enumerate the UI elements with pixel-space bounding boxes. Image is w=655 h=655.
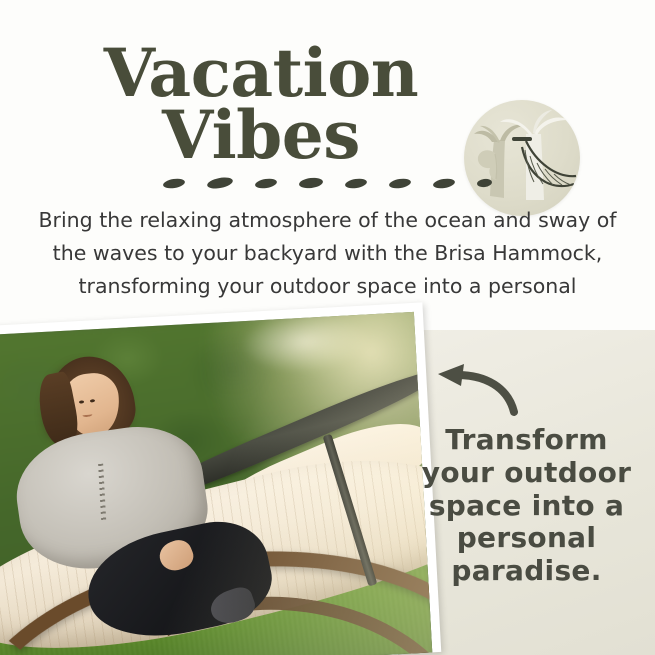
header: Vacation Vibes (0, 42, 655, 187)
divider-dash (298, 177, 323, 190)
photo-light-sheen (0, 312, 432, 655)
callout-line-5: paradise. (414, 555, 639, 588)
callout-text: Transform your outdoor space into a pers… (414, 424, 639, 588)
hammock-photo-frame (0, 302, 441, 655)
page-title: Vacation Vibes (96, 42, 426, 166)
callout-line-4: personal (414, 522, 639, 555)
body-line-2: the waves to your backyard with the Bris… (30, 237, 625, 270)
title-line-2: Vibes (96, 104, 426, 166)
divider-dash (254, 177, 277, 189)
divider-dash (162, 177, 185, 189)
divider-dash (344, 177, 367, 189)
dashed-divider (0, 172, 655, 194)
curved-arrow-left-icon (430, 360, 530, 418)
title-line-1: Vacation (96, 42, 426, 104)
divider-dash (206, 176, 233, 191)
divider-dash (432, 177, 455, 189)
callout-line-3: space into a (414, 490, 639, 523)
vacation-vibes-infographic: Vacation Vibes (0, 0, 655, 655)
callout-line-2: your outdoor (414, 457, 639, 490)
callout-line-1: Transform (414, 424, 639, 457)
hammock-palm-badge-icon (464, 100, 580, 216)
divider-dash (388, 177, 411, 189)
hammock-photo (0, 312, 432, 655)
divider-dash (477, 178, 493, 188)
body-line-1: Bring the relaxing atmosphere of the oce… (30, 204, 625, 237)
